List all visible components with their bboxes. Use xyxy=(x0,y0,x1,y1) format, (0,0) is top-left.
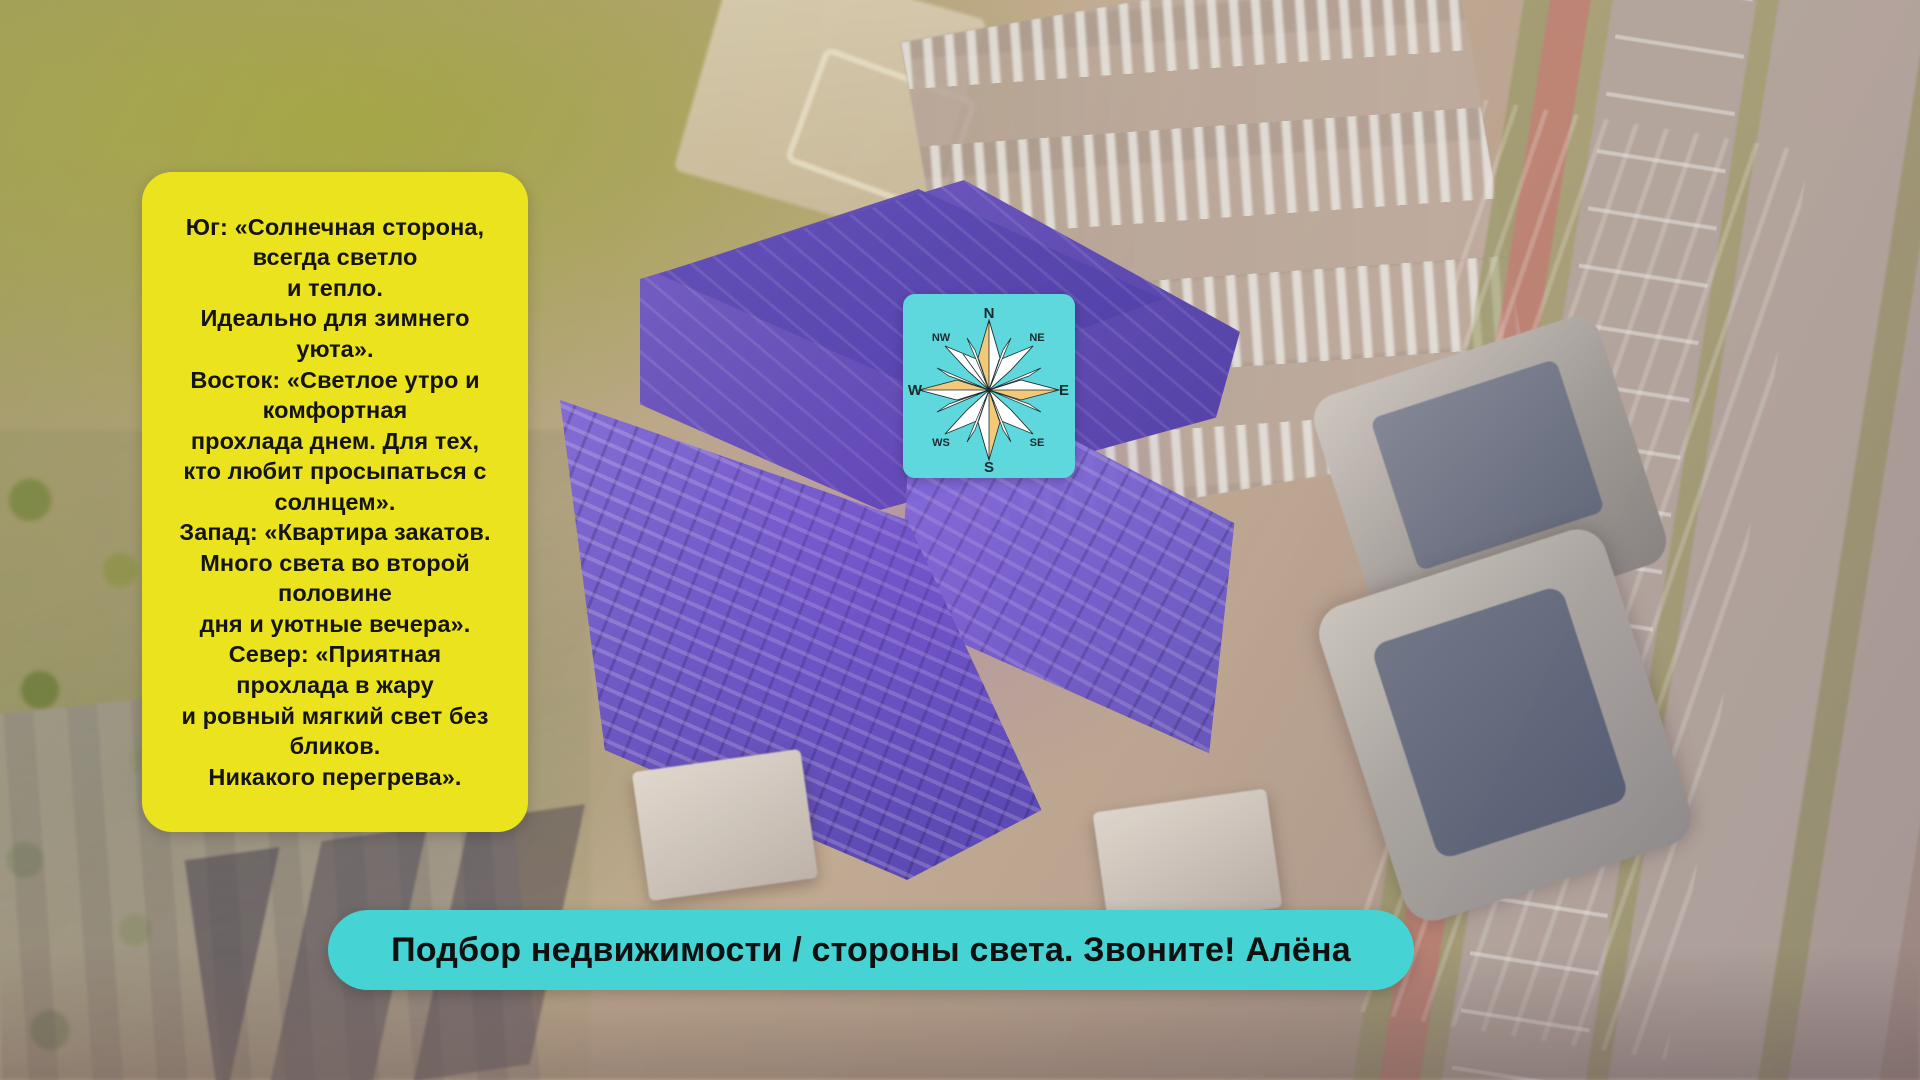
call-to-action-label: Подбор недвижимости / стороны света. Зво… xyxy=(391,931,1351,970)
compass-label-southeast: SE xyxy=(1030,437,1045,449)
compass-rose-icon: N S W E NW NE WS SE xyxy=(903,294,1075,478)
compass-rose-card: N S W E NW NE WS SE xyxy=(903,294,1075,478)
compass-label-north: N xyxy=(984,305,995,322)
compass-label-northeast: NE xyxy=(1029,332,1044,344)
compass-label-west: W xyxy=(908,382,923,399)
compass-label-east: E xyxy=(1059,382,1069,399)
cardinal-directions-info-card: Юг: «Солнечная сторона, всегда светло и … xyxy=(142,172,528,832)
cardinal-directions-text: Юг: «Солнечная сторона, всегда светло и … xyxy=(179,212,490,792)
compass-label-southwest: WS xyxy=(932,437,950,449)
promo-canvas: Юг: «Солнечная сторона, всегда светло и … xyxy=(0,0,1920,1080)
compass-label-south: S xyxy=(984,459,994,476)
white-podium-left xyxy=(632,749,818,901)
call-to-action-banner[interactable]: Подбор недвижимости / стороны света. Зво… xyxy=(328,910,1414,990)
compass-label-northwest: NW xyxy=(932,332,951,344)
